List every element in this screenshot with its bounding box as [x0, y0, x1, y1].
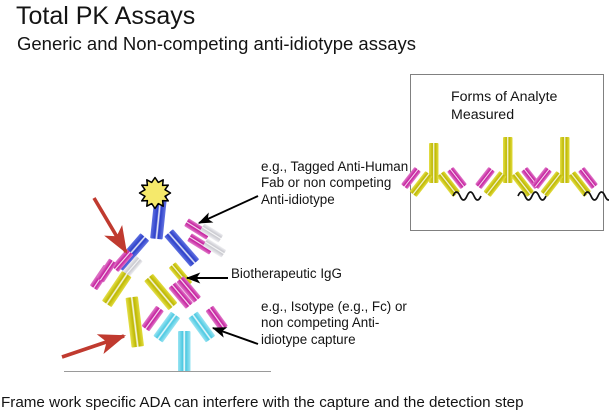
solid-phase-baseline [64, 371, 271, 372]
forms-of-analyte-panel: Forms of Analyte Measured [410, 74, 604, 231]
capture-antibody-arm-right [188, 306, 228, 343]
analyte-form-one-ada-right [401, 143, 481, 200]
analyte-form-free [475, 137, 541, 197]
capture-antibody-stem [178, 331, 191, 372]
capture-antibody [142, 306, 228, 372]
analyte-antibody-stem [125, 296, 144, 347]
footer-caption: Frame work specific ADA can interfere wi… [1, 394, 524, 411]
detection-antibody-arm-right [164, 218, 226, 267]
capture-antibody-arm-left [142, 306, 181, 343]
annotation-analyte: Biotherapeutic IgG [231, 266, 411, 282]
ada-interference-arrow-capture [62, 336, 124, 357]
ada-interference-arrow-detection [94, 198, 126, 252]
slide-canvas: Total PK Assays Generic and Non-competin… [0, 0, 609, 417]
callout-arrow-capture [213, 328, 258, 344]
ada-squiggle-left [518, 192, 546, 200]
detection-antibody [112, 178, 227, 278]
annotation-detection: e.g., Tagged Anti-Human Fab or non compe… [261, 159, 411, 208]
callout-arrow-detection [199, 196, 258, 223]
forms-panel-figures [411, 75, 605, 232]
annotation-capture: e.g., Isotype (e.g., Fc) or non competin… [261, 299, 416, 348]
analyte-antibody-arm-right [144, 262, 201, 310]
